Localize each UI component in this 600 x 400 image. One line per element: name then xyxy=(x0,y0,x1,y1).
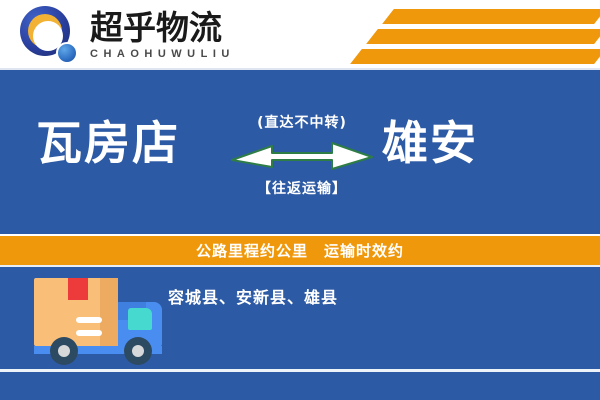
brand-name-cn: 超乎物流 xyxy=(90,10,235,46)
truck-hub-rear xyxy=(58,345,70,357)
service-area-list: 容城县、安新县、雄县 xyxy=(168,284,338,308)
logistics-route-poster: 超乎物流 CHAOHUWULIU 瓦房店 (直达不中转) 【往返运输】 雄安 公… xyxy=(0,0,600,400)
truck-cargo-tape xyxy=(68,278,88,300)
route-middle: (直达不中转) 【往返运输】 xyxy=(228,112,376,198)
logo-circle-crescent-icon xyxy=(20,6,78,64)
truck-label-line-1 xyxy=(76,317,102,323)
route-note-bottom: 【往返运输】 xyxy=(228,178,376,198)
route-band: 瓦房店 (直达不中转) 【往返运输】 雄安 xyxy=(0,70,600,234)
double-headed-arrow-svg xyxy=(228,138,376,172)
distance-duration-text: 公路里程约公里 运输时效约 xyxy=(196,240,404,261)
stripe-3 xyxy=(350,49,600,64)
truck-window xyxy=(128,308,152,330)
truck-cargo-shade xyxy=(100,278,118,346)
origin-city: 瓦房店 xyxy=(36,120,180,166)
logo-crescent xyxy=(28,14,62,48)
brand-lockup: 超乎物流 CHAOHUWULIU xyxy=(20,4,235,66)
stripe-1 xyxy=(382,9,600,24)
truck-label-line-2 xyxy=(76,330,102,336)
destination-city: 雄安 xyxy=(382,120,478,166)
brand-text: 超乎物流 CHAOHUWULIU xyxy=(90,10,235,60)
route-note-top: (直达不中转) xyxy=(228,112,376,132)
truck-wheel-rear xyxy=(50,337,78,365)
stripe-2 xyxy=(366,29,600,44)
truck-hub-front xyxy=(132,345,144,357)
distance-duration-bar: 公路里程约公里 运输时效约 xyxy=(0,234,600,267)
orange-speed-stripes-icon xyxy=(330,0,600,70)
delivery-truck-icon xyxy=(28,275,166,367)
brand-name-en: CHAOHUWULIU xyxy=(90,48,235,60)
double-headed-arrow-icon xyxy=(228,138,376,172)
bottom-divider xyxy=(0,369,600,372)
service-area-section: 容城县、安新县、雄县 xyxy=(0,267,600,400)
logo-dot-icon xyxy=(56,42,78,64)
header-bar: 超乎物流 CHAOHUWULIU xyxy=(0,0,600,70)
truck-wheel-front xyxy=(124,337,152,365)
